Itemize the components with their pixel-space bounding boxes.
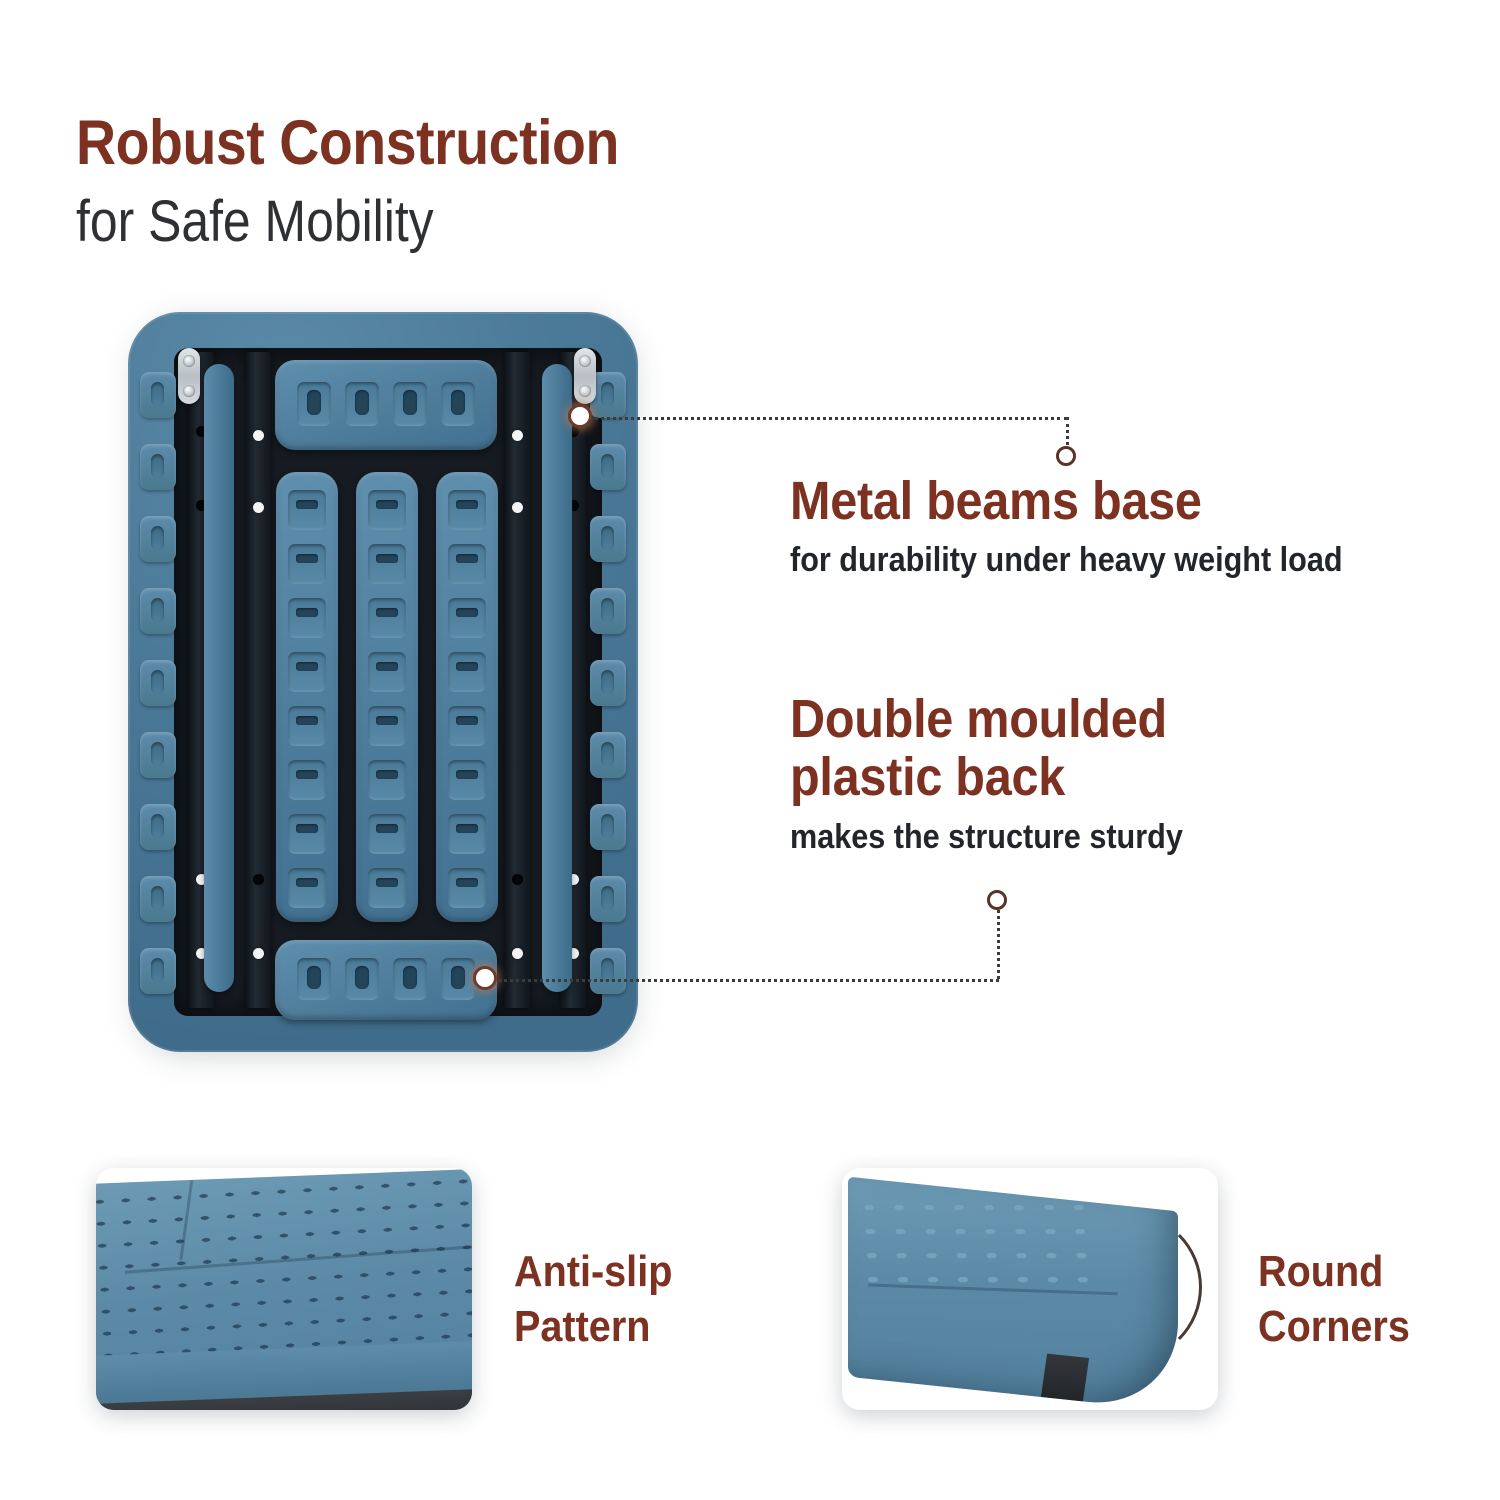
panel-cell xyxy=(448,544,486,584)
product-plastic-shell xyxy=(128,312,638,1052)
hinge-bracket xyxy=(178,348,200,404)
panel-cell xyxy=(297,958,331,1000)
edge-rib xyxy=(590,948,626,994)
edge-rib xyxy=(140,876,176,922)
beam-screw xyxy=(253,502,264,513)
panel-cell xyxy=(441,958,475,1000)
callout-subtext: makes the structure sturdy xyxy=(790,817,1183,858)
edge-rib xyxy=(140,588,176,634)
callout-metal-beams-base: Metal beams base for durability under he… xyxy=(790,472,1404,581)
product-underside-illustration xyxy=(128,312,638,1052)
edge-rib xyxy=(140,804,176,850)
label-anti-slip: Anti-slip Pattern xyxy=(514,1244,690,1354)
edge-rib xyxy=(590,516,626,562)
beam-screw xyxy=(512,948,523,959)
edge-rib xyxy=(590,804,626,850)
panel-cell xyxy=(368,598,406,638)
beam-screw xyxy=(253,948,264,959)
side-rail xyxy=(204,364,234,992)
panel-cell xyxy=(448,598,486,638)
edge-rib xyxy=(140,444,176,490)
bracket-screw-icon xyxy=(579,385,591,397)
panel-cell xyxy=(368,544,406,584)
side-rail xyxy=(542,364,572,992)
panel-cell xyxy=(288,760,326,800)
hinge-bracket xyxy=(574,348,596,404)
panel-cell xyxy=(288,598,326,638)
label-line2: Corners xyxy=(1258,1299,1410,1354)
anti-slip-bump-texture xyxy=(854,1195,1089,1291)
panel-cell xyxy=(288,814,326,854)
metal-beam xyxy=(245,352,271,1008)
panel-cell xyxy=(345,958,379,1000)
feature-card-round-corners xyxy=(842,1168,1218,1410)
edge-rib xyxy=(590,588,626,634)
panel-cell xyxy=(368,814,406,854)
feature-card-anti-slip xyxy=(96,1168,472,1410)
edge-rib xyxy=(140,948,176,994)
edge-rib xyxy=(590,444,626,490)
leader-vertical-segment xyxy=(997,905,1000,979)
callout-heading: Metal beams base xyxy=(790,472,1343,530)
panel-cell xyxy=(393,382,427,426)
label-line1: Round xyxy=(1258,1244,1410,1299)
infographic-canvas: Robust Construction for Safe Mobility xyxy=(0,0,1500,1500)
edge-rib xyxy=(590,876,626,922)
panel-cell xyxy=(288,544,326,584)
anti-slip-surface-photo xyxy=(96,1168,472,1410)
panel-cell xyxy=(448,868,486,908)
panel-cell xyxy=(288,868,326,908)
bracket-screw-icon xyxy=(183,355,195,367)
bracket-screw-icon xyxy=(183,385,195,397)
callout-subtext: for durability under heavy weight load xyxy=(790,540,1343,581)
leader-end-circle xyxy=(1056,446,1076,466)
metal-beam xyxy=(504,352,530,1008)
bracket-screw-icon xyxy=(579,355,591,367)
panel-cell xyxy=(448,760,486,800)
edge-rib xyxy=(590,660,626,706)
page-title: Robust Construction for Safe Mobility xyxy=(76,112,693,251)
beam-screw xyxy=(512,874,523,885)
callout-heading-line2: plastic back xyxy=(790,748,1183,806)
panel-cell xyxy=(368,652,406,692)
edge-rib xyxy=(590,732,626,778)
beam-screw xyxy=(253,874,264,885)
panel-cell xyxy=(288,706,326,746)
edge-rib xyxy=(140,372,176,418)
panel-cell xyxy=(368,760,406,800)
beam-screw xyxy=(253,430,264,441)
label-round-corners: Round Corners xyxy=(1258,1244,1427,1354)
panel-cell xyxy=(345,382,379,426)
panel-cell xyxy=(448,490,486,530)
label-line2: Pattern xyxy=(514,1299,672,1354)
round-corner-arc-indicator xyxy=(1082,1212,1202,1362)
panel-cell xyxy=(368,490,406,530)
panel-cell xyxy=(393,958,427,1000)
moulded-panel-center-mid xyxy=(356,472,418,922)
edge-rib xyxy=(140,660,176,706)
title-line-secondary: for Safe Mobility xyxy=(76,193,607,251)
edge-rib xyxy=(140,732,176,778)
label-line1: Anti-slip xyxy=(514,1244,672,1299)
callout-heading-line1: Double moulded xyxy=(790,690,1183,748)
panel-cell xyxy=(368,706,406,746)
beam-screw xyxy=(512,430,523,441)
edge-rib xyxy=(140,516,176,562)
panel-cell xyxy=(297,382,331,426)
panel-cell xyxy=(441,382,475,426)
panel-cell xyxy=(368,868,406,908)
beam-screw xyxy=(512,502,523,513)
panel-cell xyxy=(288,652,326,692)
panel-cell xyxy=(448,652,486,692)
moulded-panel-top xyxy=(275,360,497,450)
leader-horizontal-segment xyxy=(594,417,1068,420)
moulded-panel-center-left xyxy=(276,472,338,922)
title-line-primary: Robust Construction xyxy=(76,112,619,175)
leader-end-circle xyxy=(987,890,1007,910)
callout-double-moulded-plastic-back: Double moulded plastic back makes the st… xyxy=(790,690,1227,857)
panel-cell xyxy=(288,490,326,530)
moulded-panel-bottom xyxy=(275,940,497,1020)
moulded-panel-center-right xyxy=(436,472,498,922)
leader-vertical-segment xyxy=(1066,417,1069,452)
panel-cell xyxy=(448,706,486,746)
panel-cell xyxy=(448,814,486,854)
